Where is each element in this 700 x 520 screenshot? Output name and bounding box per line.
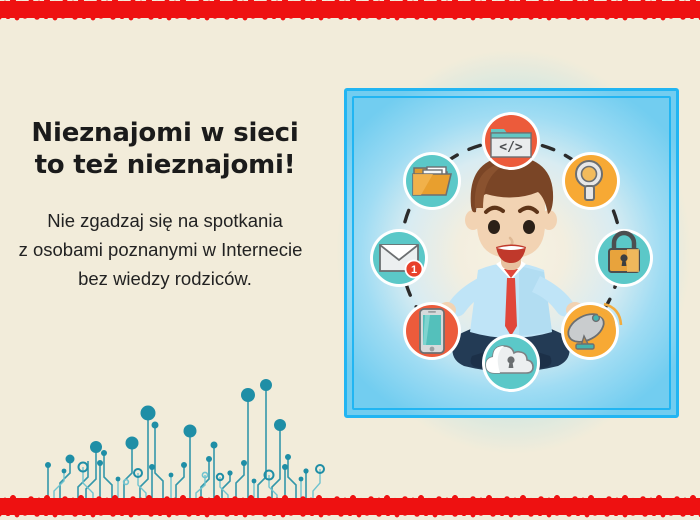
icon-padlock[interactable]: [595, 229, 653, 287]
envelope-badge-count: 1: [411, 264, 417, 276]
code-window-label: </>: [499, 140, 523, 155]
top-band-tear-upper: [0, 0, 700, 3]
circuit-board-decoration: [0, 355, 340, 510]
body-line-1: Nie zgadzaj się na spotkania: [0, 207, 330, 236]
poster-canvas: Nieznajomi w sieci to też nieznajomi! Ni…: [0, 0, 700, 520]
bottom-band-tear-upper: [0, 495, 700, 500]
text-column: Nieznajomi w sieci to też nieznajomi! Ni…: [0, 118, 330, 293]
icon-folder[interactable]: [403, 152, 461, 210]
icon-envelope[interactable]: 1: [370, 229, 428, 287]
magnifier-handle: [585, 186, 594, 200]
character-eye-left: [488, 220, 500, 234]
top-red-band: [0, 1, 700, 18]
character-eye-right: [523, 220, 535, 234]
bottom-red-band: [0, 498, 700, 515]
icon-cloud-lock[interactable]: [482, 334, 540, 392]
headline-line-1: Nieznajomi w sieci: [0, 118, 330, 150]
top-band-tear-lower: [0, 16, 700, 21]
illustration-stage: </>: [344, 88, 679, 418]
magnifier-lens: [582, 167, 597, 182]
character-tie: [505, 278, 517, 336]
illustration-svg: </>: [344, 88, 679, 418]
headline-line-2: to też nieznajomi!: [0, 150, 330, 182]
bottom-band-tear-lower: [0, 513, 700, 518]
smartphone-speaker: [428, 311, 436, 313]
satellite-dish-base: [576, 344, 594, 349]
page-title: Nieznajomi w sieci to też nieznajomi!: [0, 118, 330, 181]
body-text: Nie zgadzaj się na spotkania z osobami p…: [0, 207, 330, 293]
icon-magnifier[interactable]: [562, 152, 620, 210]
icon-code-window[interactable]: </>: [482, 112, 540, 170]
padlock-body-highlight: [627, 249, 639, 272]
body-line-2: z osobami poznanymi w Internecie: [0, 236, 330, 265]
smartphone-home-button: [430, 347, 435, 352]
body-line-3: bez wiedzy rodziców.: [0, 265, 330, 294]
code-window-titlebar: [491, 133, 531, 138]
icon-smartphone[interactable]: [403, 302, 461, 360]
satellite-dish-feed: [593, 315, 600, 322]
icon-satellite-dish[interactable]: [561, 302, 621, 360]
